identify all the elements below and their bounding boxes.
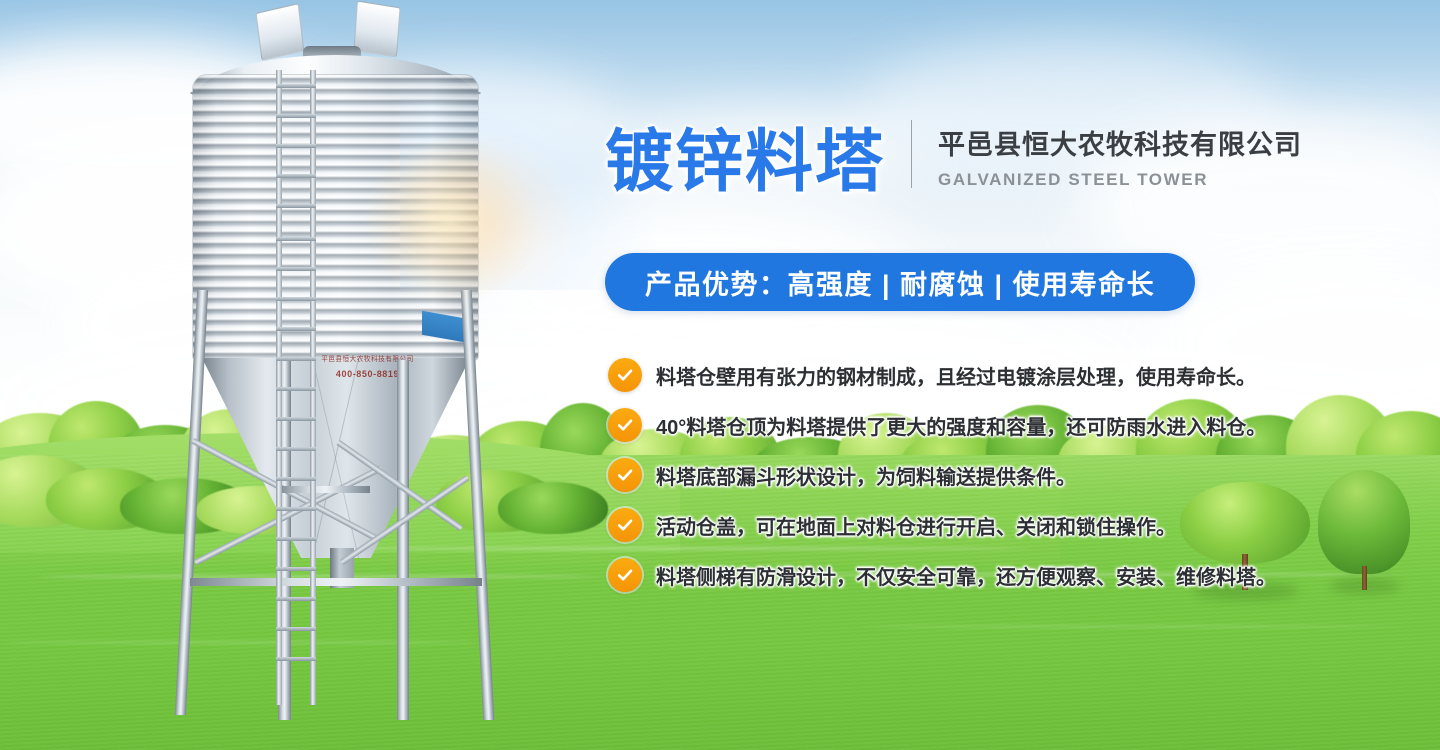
check-circle-icon [608, 408, 642, 442]
page-title: 镀锌料塔 [605, 128, 885, 196]
advantage-pill: 产品优势：高强度 | 耐腐蚀 | 使用寿命长 [605, 253, 1195, 311]
title-divider [911, 120, 912, 188]
advantage-pill-label: 产品优势：高强度 | 耐腐蚀 | 使用寿命长 [645, 263, 1155, 302]
check-circle-icon [608, 558, 642, 592]
feature-text: 料塔仓壁用有张力的钢材制成，且经过电镀涂层处理，使用寿命长。 [656, 361, 1256, 390]
banner-content: 镀锌料塔 平邑县恒大农牧科技有限公司 GALVANIZED STEEL TOWE… [0, 0, 1440, 750]
feature-list: 料塔仓壁用有张力的钢材制成，且经过电镀涂层处理，使用寿命长。 40°料塔仓顶为料… [608, 358, 1276, 592]
list-item: 料塔侧梯有防滑设计，不仅安全可靠，还方便观察、安装、维修料塔。 [608, 558, 1276, 592]
list-item: 料塔仓壁用有张力的钢材制成，且经过电镀涂层处理，使用寿命长。 [608, 358, 1276, 392]
list-item: 活动仓盖，可在地面上对料仓进行开启、关闭和锁住操作。 [608, 508, 1276, 542]
check-circle-icon [608, 508, 642, 542]
check-circle-icon [608, 358, 642, 392]
check-circle-icon [608, 458, 642, 492]
list-item: 料塔底部漏斗形状设计，为饲料输送提供条件。 [608, 458, 1276, 492]
hero-banner: 平邑县恒大农牧科技有限公司 400-850-8819 [0, 0, 1440, 750]
headline-row: 镀锌料塔 平邑县恒大农牧科技有限公司 GALVANIZED STEEL TOWE… [605, 120, 1302, 196]
company-subtitle: GALVANIZED STEEL TOWER [938, 170, 1302, 190]
feature-text: 料塔侧梯有防滑设计，不仅安全可靠，还方便观察、安装、维修料塔。 [656, 561, 1276, 590]
feature-text: 活动仓盖，可在地面上对料仓进行开启、关闭和锁住操作。 [656, 511, 1176, 540]
company-block: 平邑县恒大农牧科技有限公司 GALVANIZED STEEL TOWER [938, 129, 1302, 196]
feature-text: 40°料塔仓顶为料塔提供了更大的强度和容量，还可防雨水进入料仓。 [656, 411, 1266, 440]
list-item: 40°料塔仓顶为料塔提供了更大的强度和容量，还可防雨水进入料仓。 [608, 408, 1276, 442]
company-name: 平邑县恒大农牧科技有限公司 [938, 129, 1302, 163]
feature-text: 料塔底部漏斗形状设计，为饲料输送提供条件。 [656, 461, 1076, 490]
